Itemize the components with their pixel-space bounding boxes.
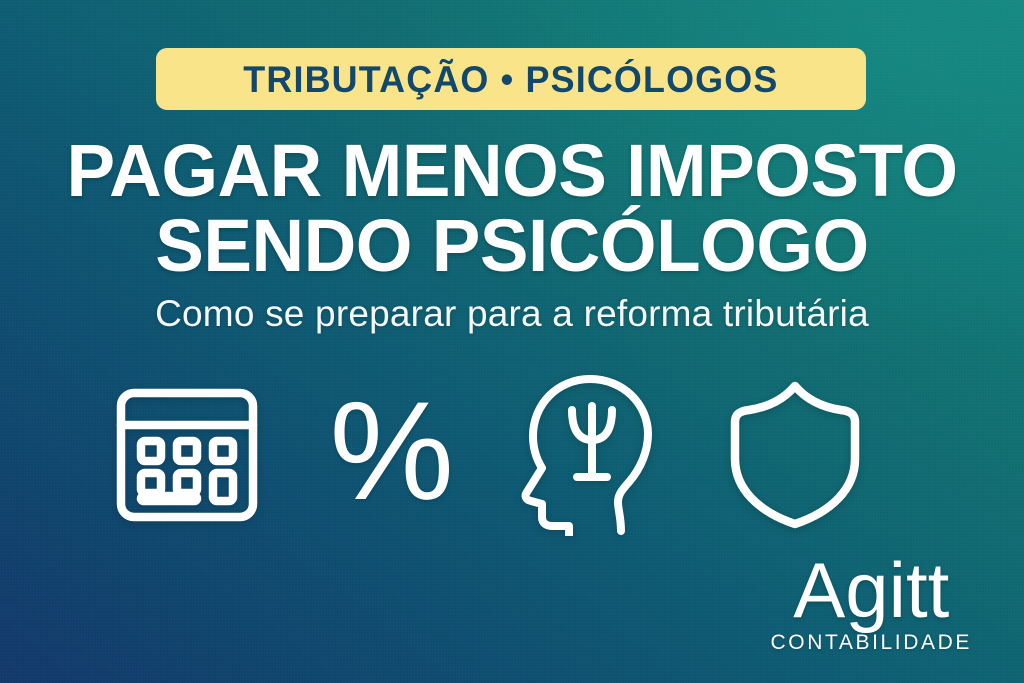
logo-wordmark: Agitt — [771, 553, 972, 627]
percent-icon: % — [330, 381, 450, 521]
shield-icon — [729, 381, 861, 529]
icon-cell-percent: % — [289, 372, 492, 537]
icon-cell-psychology — [491, 372, 694, 537]
logo-tagline: CONTABILIDADE — [771, 631, 972, 655]
psychology-head-icon — [517, 374, 667, 536]
logo: Agitt CONTABILIDADE — [771, 553, 972, 655]
subtitle: Como se preparar para a reforma tributár… — [0, 294, 1024, 335]
page-title: PAGAR MENOS IMPOSTO SENDO PSICÓLOGO — [0, 134, 1024, 283]
icon-row: % — [86, 372, 896, 537]
badge-pill: TRIBUTAÇÃO • PSICÓLOGOS — [156, 48, 866, 110]
badge-label: TRIBUTAÇÃO • PSICÓLOGOS — [243, 61, 778, 98]
badge: TRIBUTAÇÃO • PSICÓLOGOS — [156, 48, 866, 110]
headline-line-1: PAGAR MENOS IMPOSTO — [8, 134, 1017, 207]
headline-line-2: SENDO PSICÓLOGO — [8, 209, 1017, 282]
calculator-icon — [116, 388, 258, 522]
promotional-banner: TRIBUTAÇÃO • PSICÓLOGOS PAGAR MENOS IMPO… — [0, 0, 1024, 683]
icon-cell-shield — [694, 372, 897, 537]
icon-cell-calculator — [86, 372, 289, 537]
